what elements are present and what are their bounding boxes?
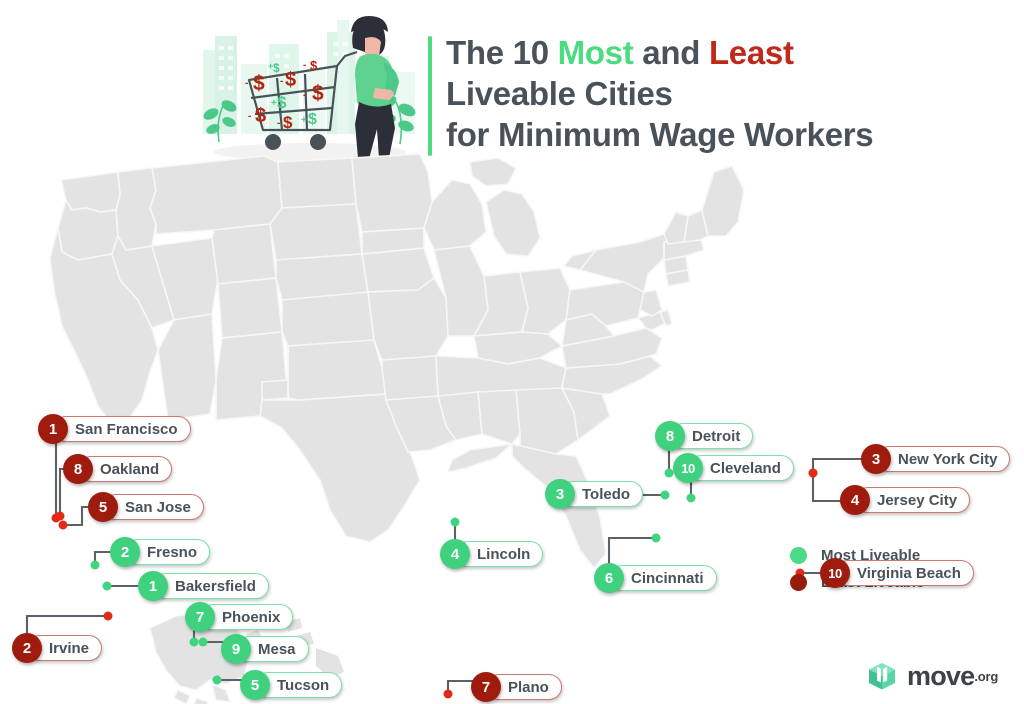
svg-text:$: $	[285, 69, 296, 91]
city-dot-jersey-city	[809, 469, 818, 478]
rank-badge-fresno: 2	[110, 537, 140, 567]
rank-badge-bakersfield: 1	[138, 571, 168, 601]
city-label-phoenix[interactable]: 7Phoenix	[185, 602, 293, 632]
svg-text:+: +	[271, 98, 277, 109]
city-label-detroit[interactable]: 8Detroit	[655, 421, 753, 451]
svg-text:-: -	[280, 76, 283, 87]
city-label-fresno[interactable]: 2Fresno	[110, 537, 210, 567]
svg-text:+: +	[268, 61, 273, 71]
city-dot-tucson	[213, 676, 222, 685]
title-text-the-10: The 10	[446, 34, 558, 71]
city-dot-bakersfield	[103, 582, 112, 591]
rank-badge-irvine: 2	[12, 633, 42, 663]
city-label-plano[interactable]: 7Plano	[471, 672, 562, 702]
svg-text:-: -	[248, 111, 251, 122]
city-dot-fresno	[91, 561, 100, 570]
svg-text:-: -	[277, 118, 280, 129]
city-label-irvine[interactable]: 2Irvine	[12, 633, 102, 663]
logo-wordmark: move	[907, 663, 974, 690]
rank-badge-lincoln: 4	[440, 539, 470, 569]
title-text-most: Most	[558, 34, 634, 71]
infographic-canvas: $ $ $ $ $ $ $ $ $ - - - - - - + + +	[0, 0, 1024, 704]
city-dot-san-jose	[59, 521, 68, 530]
city-label-cincinnati[interactable]: 6Cincinnati	[594, 563, 717, 593]
title-text-and: and	[633, 34, 709, 71]
rank-badge-jersey-city: 4	[840, 485, 870, 515]
city-name-bakersfield: Bakersfield	[153, 573, 269, 599]
rank-badge-san-francisco: 1	[38, 414, 68, 444]
city-dot-plano	[444, 690, 453, 699]
city-label-toledo[interactable]: 3Toledo	[545, 479, 643, 509]
rank-badge-oakland: 8	[63, 454, 93, 484]
city-label-cleveland[interactable]: 10Cleveland	[673, 453, 794, 483]
rank-badge-cincinnati: 6	[594, 563, 624, 593]
page-title: The 10 Most and Least Liveable Cities fo…	[428, 32, 1008, 155]
city-label-tucson[interactable]: 5Tucson	[240, 670, 342, 700]
title-line-1: The 10 Most and Least	[428, 32, 1008, 73]
svg-text:$: $	[312, 82, 324, 105]
city-label-bakersfield[interactable]: 1Bakersfield	[138, 571, 269, 601]
city-label-san-francisco[interactable]: 1San Francisco	[38, 414, 191, 444]
legend-swatch-green-icon	[790, 547, 807, 564]
svg-text:$: $	[273, 61, 280, 75]
svg-text:$: $	[283, 113, 293, 132]
city-name-cleveland: Cleveland	[688, 455, 794, 481]
city-label-san-jose[interactable]: 5San Jose	[88, 492, 204, 522]
rank-badge-toledo: 3	[545, 479, 575, 509]
svg-text:$: $	[255, 105, 266, 127]
rank-badge-san-jose: 5	[88, 492, 118, 522]
move-org-logo[interactable]: move.org	[866, 660, 998, 692]
rank-badge-virginia-beach: 10	[820, 558, 850, 588]
city-dot-phoenix	[190, 638, 199, 647]
city-label-lincoln[interactable]: 4Lincoln	[440, 539, 543, 569]
rank-badge-tucson: 5	[240, 670, 270, 700]
city-dot-toledo	[661, 491, 670, 500]
svg-text:$: $	[253, 72, 265, 95]
rank-badge-cleveland: 10	[673, 453, 703, 483]
city-name-new-york-city: New York City	[876, 446, 1010, 472]
legend-swatch-red-icon	[790, 574, 807, 591]
city-name-san-francisco: San Francisco	[53, 416, 191, 442]
svg-text:+: +	[301, 115, 307, 126]
svg-text:-: -	[303, 90, 306, 101]
city-label-virginia-beach[interactable]: 10Virginia Beach	[820, 558, 974, 588]
title-text-least: Least	[709, 34, 794, 71]
city-label-jersey-city[interactable]: 4Jersey City	[840, 485, 970, 515]
city-label-new-york-city[interactable]: 3New York City	[861, 444, 1010, 474]
svg-text:-: -	[303, 60, 306, 71]
rank-badge-plano: 7	[471, 672, 501, 702]
city-dot-irvine	[104, 612, 113, 621]
rank-badge-mesa: 9	[221, 634, 251, 664]
city-dot-cincinnati	[652, 534, 661, 543]
city-name-cincinnati: Cincinnati	[609, 565, 717, 591]
svg-text:-: -	[245, 78, 248, 89]
svg-text:$: $	[308, 111, 317, 128]
rank-badge-new-york-city: 3	[861, 444, 891, 474]
city-dot-cleveland	[687, 494, 696, 503]
city-name-jersey-city: Jersey City	[855, 487, 970, 513]
rank-badge-detroit: 8	[655, 421, 685, 451]
city-dot-oakland	[56, 512, 65, 521]
title-line-3: for Minimum Wage Workers	[428, 114, 1008, 155]
city-name-san-jose: San Jose	[103, 494, 204, 520]
hero-illustration: $ $ $ $ $ $ $ $ $ - - - - - - + + +	[185, 2, 435, 162]
city-label-oakland[interactable]: 8Oakland	[63, 454, 172, 484]
city-label-mesa[interactable]: 9Mesa	[221, 634, 309, 664]
city-dot-mesa	[199, 638, 208, 647]
city-dot-lincoln	[451, 518, 460, 527]
title-line-2: Liveable Cities	[428, 73, 1008, 114]
move-box-icon	[866, 660, 898, 692]
rank-badge-phoenix: 7	[185, 602, 215, 632]
city-name-virginia-beach: Virginia Beach	[835, 560, 974, 586]
logo-tld: .org	[974, 669, 998, 684]
svg-text:$: $	[310, 58, 318, 73]
svg-text:$: $	[277, 93, 287, 112]
